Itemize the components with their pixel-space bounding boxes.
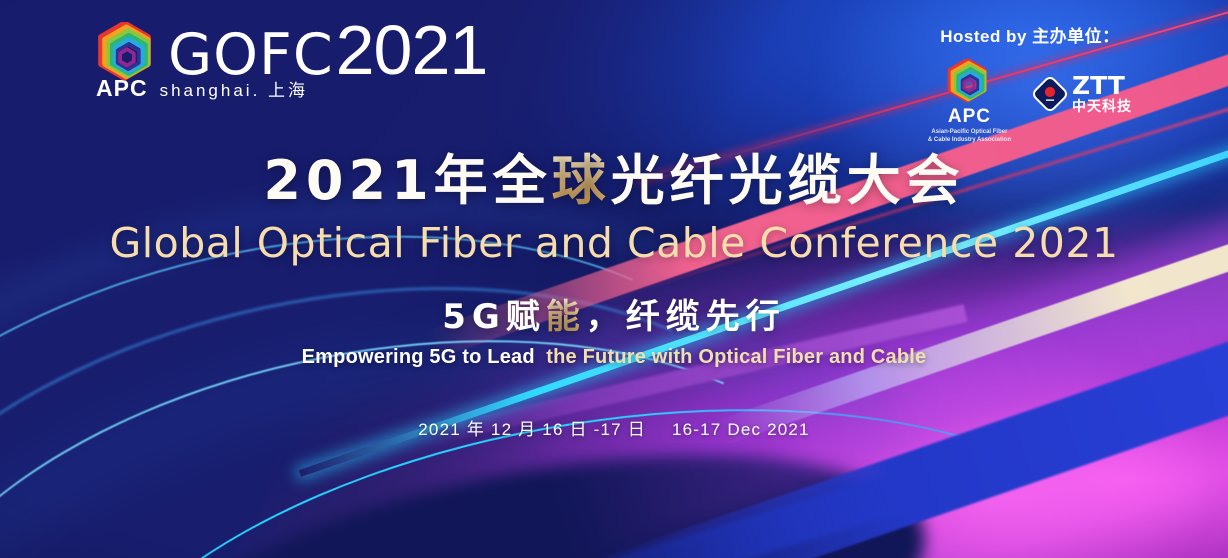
brand-year-text: 2021 [336, 18, 488, 82]
chinese-title-part-a: 2021年全 [263, 149, 551, 212]
sponsor-apc-subtitle: Asian-Pacific Optical Fiber & Cable Indu… [928, 129, 1011, 144]
title-block: 2021年全球光纤光缆大会 Global Optical Fiber and C… [0, 152, 1228, 440]
english-subtitle: Empowering 5G to Lead the Future with Op… [0, 346, 1228, 369]
ztt-diamond-logo-icon [1033, 77, 1067, 111]
conference-banner: GOFC 2021 APC shanghai. 上海 Hosted by 主办单… [0, 0, 1228, 558]
sponsor-apc-name: APC [948, 106, 991, 128]
sponsor-apc[interactable]: APC Asian-Pacific Optical Fiber & Cable … [928, 59, 1011, 144]
event-dates-cn: 2021 年 12 月 16 日 -17 日 [418, 420, 646, 439]
sponsor-ztt-name: ZTT [1072, 73, 1125, 98]
apc-hexagon-logo-icon [96, 22, 158, 84]
subtitle-white-part: Empowering 5G to Lead [302, 346, 535, 368]
apc-hexagon-logo-icon [946, 59, 992, 105]
sponsor-ztt[interactable]: ZTT 中天科技 [1033, 73, 1132, 114]
brand-gofc-text: GOFC [168, 28, 334, 83]
chinese-title-gold-char: 球 [552, 149, 611, 212]
subtitle-gold-part: the Future with Optical Fiber and Cable [546, 346, 926, 368]
sponsor-logo-row: APC Asian-Pacific Optical Fiber & Cable … [928, 59, 1132, 144]
sponsor-ztt-cn: 中天科技 [1072, 99, 1132, 114]
tagline-part-b: ，纤缆先行 [586, 297, 786, 337]
tagline-part-a: 5G赋 [442, 297, 546, 337]
hosted-by-block: Hosted by 主办单位： [928, 22, 1132, 144]
chinese-title-part-b: 光纤光缆大会 [611, 149, 965, 212]
english-main-title: Global Optical Fiber and Cable Conferenc… [0, 219, 1228, 267]
hosted-by-label: Hosted by 主办单位： [928, 22, 1132, 47]
chinese-main-title: 2021年全球光纤光缆大会 [0, 152, 1228, 209]
brand-city-text: shanghai. 上海 [160, 76, 308, 101]
event-dates: 2021 年 12 月 16 日 -17 日16-17 Dec 2021 [0, 415, 1228, 440]
chinese-tagline: 5G赋能，纤缆先行 [0, 289, 1228, 338]
brand-logo[interactable]: GOFC 2021 APC shanghai. 上海 [96, 18, 487, 102]
tagline-gold-char: 能 [546, 297, 586, 337]
event-dates-en: 16-17 Dec 2021 [672, 420, 810, 439]
